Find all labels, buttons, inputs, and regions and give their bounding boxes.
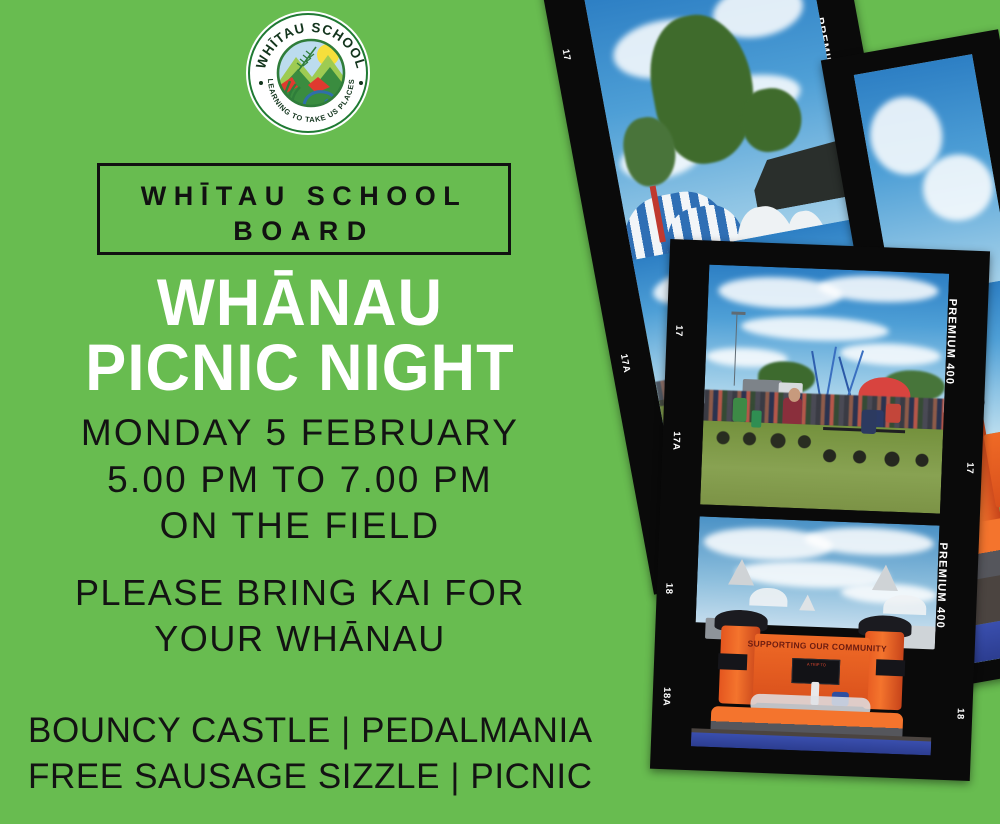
whitau-school-logo: WHĪTAU SCHOOL LEARNING TO TAKE US PLACES (243, 8, 379, 136)
event-location: ON THE FIELD (0, 503, 600, 550)
event-time: 5.00 PM TO 7.00 PM (0, 457, 600, 504)
film-mark-18a: 18A (660, 687, 672, 707)
school-board-box: WHĪTAU SCHOOL BOARD (97, 163, 511, 255)
board-title-line-2: BOARD (100, 216, 508, 247)
photo-bouncy-castle: SUPPORTING OUR COMMUNITY A TRIP TO (691, 516, 940, 755)
film-mark-17: 17 (560, 48, 573, 62)
activities-line-1: BOUNCY CASTLE | PEDALMANIA (28, 708, 600, 754)
film-mark-18: 18 (663, 583, 674, 595)
headline-line-2: PICNIC NIGHT (21, 335, 579, 400)
film-mark-17a: 17A (670, 431, 682, 451)
poster-text-column: WHĪTAU SCHOOL LEARNING TO TAKE US PLACES… (0, 0, 600, 824)
logo-emblem-icon: WHĪTAU SCHOOL LEARNING TO TAKE US PLACES (246, 11, 376, 141)
activities-line-2: FREE SAUSAGE SIZZLE | PICNIC (28, 754, 600, 800)
board-title-line-1: WHĪTAU SCHOOL (100, 181, 508, 212)
headline-line-1: WHĀNAU (21, 270, 579, 335)
photo-pedalmania-bikes (700, 265, 949, 514)
event-headline: WHĀNAU PICNIC NIGHT (21, 270, 579, 401)
photo-collage: 17 17A PREMIUM 400 PREMIUM 400 (555, 0, 1000, 824)
film-mark-17a: 17A (618, 353, 632, 374)
event-details: MONDAY 5 FEBRUARY 5.00 PM TO 7.00 PM ON … (0, 410, 600, 550)
film-mark-17: 17 (673, 325, 684, 337)
film-mark-17: 17 (964, 462, 975, 474)
film-mark-18: 18 (955, 708, 966, 720)
event-date: MONDAY 5 FEBRUARY (0, 410, 600, 457)
activities-list: BOUNCY CASTLE | PEDALMANIA FREE SAUSAGE … (28, 708, 600, 800)
film-strip-front: 17 17A 18 18A PREMIUM 400 17 PREMIUM 400… (650, 239, 990, 781)
kai-line-2: YOUR WHĀNAU (0, 616, 600, 662)
kai-line-1: PLEASE BRING KAI FOR (0, 570, 600, 616)
poster-canvas: WHĪTAU SCHOOL LEARNING TO TAKE US PLACES… (0, 0, 1000, 824)
bring-kai-note: PLEASE BRING KAI FOR YOUR WHĀNAU (0, 570, 600, 662)
